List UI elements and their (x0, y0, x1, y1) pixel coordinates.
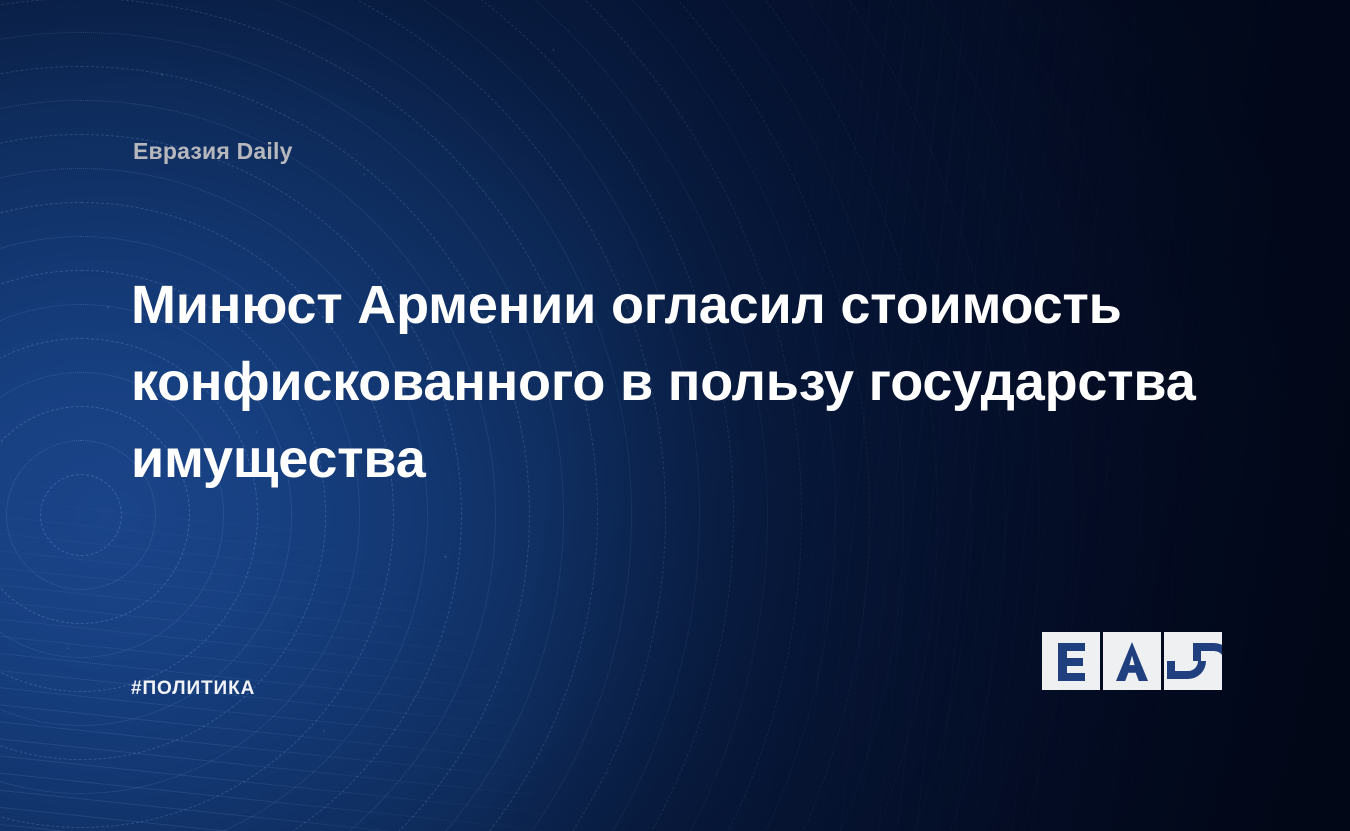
card-content: Евразия Daily Минюст Армении огласил сто… (0, 0, 1350, 831)
eadaily-logo[interactable] (1042, 632, 1222, 690)
logo-tile-a (1103, 632, 1161, 690)
category-tag: #ПОЛИТИКА (131, 678, 255, 700)
news-share-card: Евразия Daily Минюст Армении огласил сто… (0, 0, 1350, 831)
logo-d-upper-half (1164, 632, 1222, 661)
page-title: Минюст Армении огласил стоимость конфиск… (131, 267, 1221, 498)
logo-tile-e (1042, 632, 1100, 690)
logo-d-lower-half (1164, 661, 1222, 690)
brand-name: Евразия Daily (133, 138, 293, 165)
logo-tile-d-split (1164, 632, 1222, 690)
